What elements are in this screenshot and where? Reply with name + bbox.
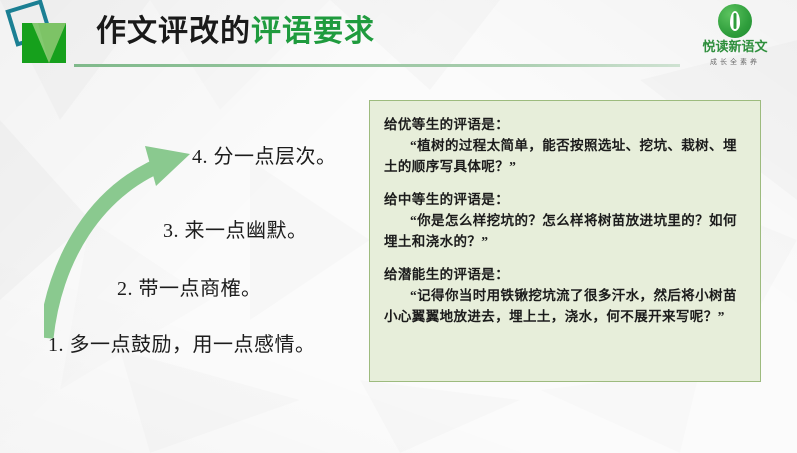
title-divider-rule — [74, 64, 680, 67]
comment-heading-bottom: 给潜能生的评语是： — [384, 265, 746, 285]
comment-heading-top: 给优等生的评语是： — [384, 115, 746, 135]
comment-block-middle: 给中等生的评语是： “你是怎么样挖坑的？怎么样将树苗放进坑里的？如何埋土和浇水的… — [384, 190, 746, 252]
list-item-4: 4. 分一点层次。 — [192, 140, 337, 169]
comment-block-bottom: 给潜能生的评语是： “记得你当时用铁锹挖坑流了很多汗水，然后将小树苗小心翼翼地放… — [384, 265, 746, 327]
page-title-accent: 评语要求 — [251, 14, 375, 49]
comment-body-top: “植树的过程太简单，能否按照选址、挖坑、栽树、埋土的顺序写具体呢？” — [384, 135, 746, 177]
slide-canvas: 作文评改的评语要求 悦读新语文 成长全素养 4. 分一点层次。 3. 来一点幽默… — [0, 0, 797, 453]
list-item-3: 3. 来一点幽默。 — [163, 214, 308, 243]
corporate-logo: 悦读新语文 成长全素养 — [689, 4, 781, 67]
page-title: 作文评改的评语要求 — [96, 12, 375, 52]
list-item-2: 2. 带一点商榷。 — [117, 272, 262, 301]
geometric-square-logo-icon — [8, 3, 74, 65]
corporate-logo-tagline: 成长全素养 — [689, 57, 781, 67]
corporate-logo-name: 悦读新语文 — [689, 40, 781, 55]
comment-heading-middle: 给中等生的评语是： — [384, 190, 746, 210]
mid-triangle-facet — [38, 23, 66, 63]
comment-body-bottom: “记得你当时用铁锹挖坑流了很多汗水，然后将小树苗小心翼翼地放进去，埋上土，浇水，… — [384, 285, 746, 327]
list-item-1: 1. 多一点鼓励，用一点感情。 — [48, 328, 316, 357]
slide-header: 作文评改的评语要求 悦读新语文 成长全素养 — [0, 0, 797, 72]
comment-body-middle: “你是怎么样挖坑的？怎么样将树苗放进坑里的？如何埋土和浇水的？” — [384, 210, 746, 252]
leaf-circle-icon — [718, 4, 752, 38]
comment-block-top: 给优等生的评语是： “植树的过程太简单，能否按照选址、挖坑、栽树、埋土的顺序写具… — [384, 115, 746, 177]
page-title-dark: 作文评改的 — [96, 14, 251, 49]
comment-examples-box: 给优等生的评语是： “植树的过程太简单，能否按照选址、挖坑、栽树、埋土的顺序写具… — [369, 100, 761, 382]
slide-footer: 沁心作文 文由心生 沁润心田 电话: 027-87538228 博思阅读 博览广… — [0, 418, 797, 453]
